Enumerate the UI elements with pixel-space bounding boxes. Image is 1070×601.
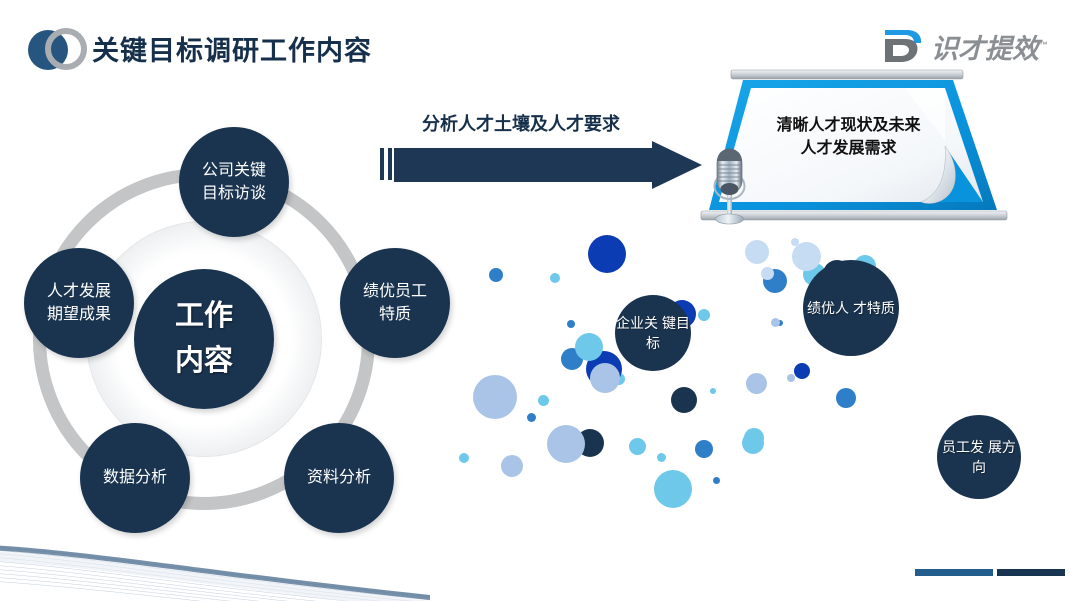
bubble-dot xyxy=(695,440,713,458)
page-title: 关键目标调研工作内容 xyxy=(92,29,372,68)
node-right-line2: 特质 xyxy=(363,303,427,326)
bubble-dot xyxy=(698,309,710,321)
bubble-dot xyxy=(745,240,769,264)
bubble-dot xyxy=(654,470,692,508)
bubble-dot xyxy=(746,373,767,394)
microphone-icon xyxy=(707,143,753,228)
bubble-dot xyxy=(742,432,764,454)
bubble-dot xyxy=(501,455,523,477)
bubble-1-line2: 才特质 xyxy=(853,300,895,316)
diagram-node-top[interactable]: 公司关键 目标访谈 xyxy=(179,127,289,237)
bubble-dot xyxy=(787,374,795,382)
footer-bar-left xyxy=(915,569,993,576)
bubble-dot xyxy=(791,238,799,246)
node-right-line1: 绩优员工 xyxy=(363,280,427,303)
bubble-dot xyxy=(547,425,585,463)
board-text-line2: 人才发展需求 xyxy=(741,137,956,160)
process-arrow-group: 分析人才土壤及人才要求 xyxy=(380,110,705,195)
bubble-label-employee-development[interactable]: 员工发 展方向 xyxy=(937,415,1021,499)
work-content-circle-diagram: 工作 内容 公司关键 目标访谈 绩优员工 特质 资料分析 数据分析 xyxy=(8,135,438,550)
bubble-dot xyxy=(836,388,856,408)
bubble-label-enterprise-goal[interactable]: 企业关 键目标 xyxy=(615,295,691,371)
bubble-dot xyxy=(550,273,560,283)
bubble-label-top-talent-traits[interactable]: 绩优人 才特质 xyxy=(803,260,899,356)
double-circle-logo-icon xyxy=(28,26,88,72)
node-left-line2: 期望成果 xyxy=(47,303,111,326)
bubble-dot xyxy=(489,268,503,282)
node-left-line1: 人才发展 xyxy=(47,280,111,303)
brand-name-text: 识才提效 xyxy=(931,34,1039,64)
bubble-0-line1: 企业关 xyxy=(616,315,658,331)
bubble-dot xyxy=(771,318,780,327)
bubble-dot xyxy=(527,413,536,422)
presentation-board-icon: 清晰人才现状及未来 人才发展需求 xyxy=(695,68,1015,228)
trademark-symbol: ™ xyxy=(1039,40,1048,50)
bubble-2-line1: 员工发 xyxy=(942,439,984,455)
board-text: 清晰人才现状及未来 人才发展需求 xyxy=(741,114,956,160)
node-top-line1: 公司关键 xyxy=(202,159,266,182)
brand-name: 识才提效™ xyxy=(931,27,1048,66)
arrow-tick-1 xyxy=(380,148,384,180)
slide-canvas: 关键目标调研工作内容 识才提效™ 工作 内容 公司关键 目标访谈 xyxy=(0,0,1070,601)
bubble-dot xyxy=(710,388,716,394)
bubble-dot xyxy=(473,375,517,419)
bubble-dot xyxy=(713,477,720,484)
bubble-dot xyxy=(588,235,626,273)
d-shape-brand-icon xyxy=(881,26,925,66)
bubble-dot xyxy=(794,363,810,379)
bubble-dot xyxy=(459,453,469,463)
logo-ring-circle xyxy=(45,28,87,70)
bubble-1-line1: 绩优人 xyxy=(807,300,849,316)
node-br-line1: 资料分析 xyxy=(307,466,371,489)
bubble-dot xyxy=(671,387,697,413)
right-arrow-icon xyxy=(394,141,704,189)
footer-bar-right xyxy=(997,569,1065,576)
bubble-dot xyxy=(567,320,575,328)
center-label-line2: 内容 xyxy=(175,339,233,384)
node-top-line2: 目标访谈 xyxy=(202,182,266,205)
arrow-tick-2 xyxy=(388,148,392,180)
bubble-dot xyxy=(590,363,620,393)
arrow-label: 分析人才土壤及人才要求 xyxy=(422,110,620,136)
bubble-cluster: 企业关 键目标 绩优人 才特质 员工发 展方向 xyxy=(455,225,1070,545)
bubble-dot xyxy=(629,438,646,455)
center-label-line1: 工作 xyxy=(175,294,233,339)
wave-swoosh-decoration xyxy=(0,501,430,601)
diagram-center-node[interactable]: 工作 内容 xyxy=(134,269,274,409)
bubble-dot xyxy=(792,242,821,271)
diagram-node-left[interactable]: 人才发展 期望成果 xyxy=(24,248,134,358)
bubble-dot xyxy=(657,453,666,462)
bubble-dot xyxy=(761,267,774,280)
board-text-line1: 清晰人才现状及未来 xyxy=(741,114,956,137)
bubble-dot xyxy=(575,333,603,361)
diagram-node-right[interactable]: 绩优员工 特质 xyxy=(340,248,450,358)
brand-logo: 识才提效™ xyxy=(881,24,1048,68)
node-bl-line1: 数据分析 xyxy=(103,466,167,489)
bubble-dot xyxy=(538,395,549,406)
